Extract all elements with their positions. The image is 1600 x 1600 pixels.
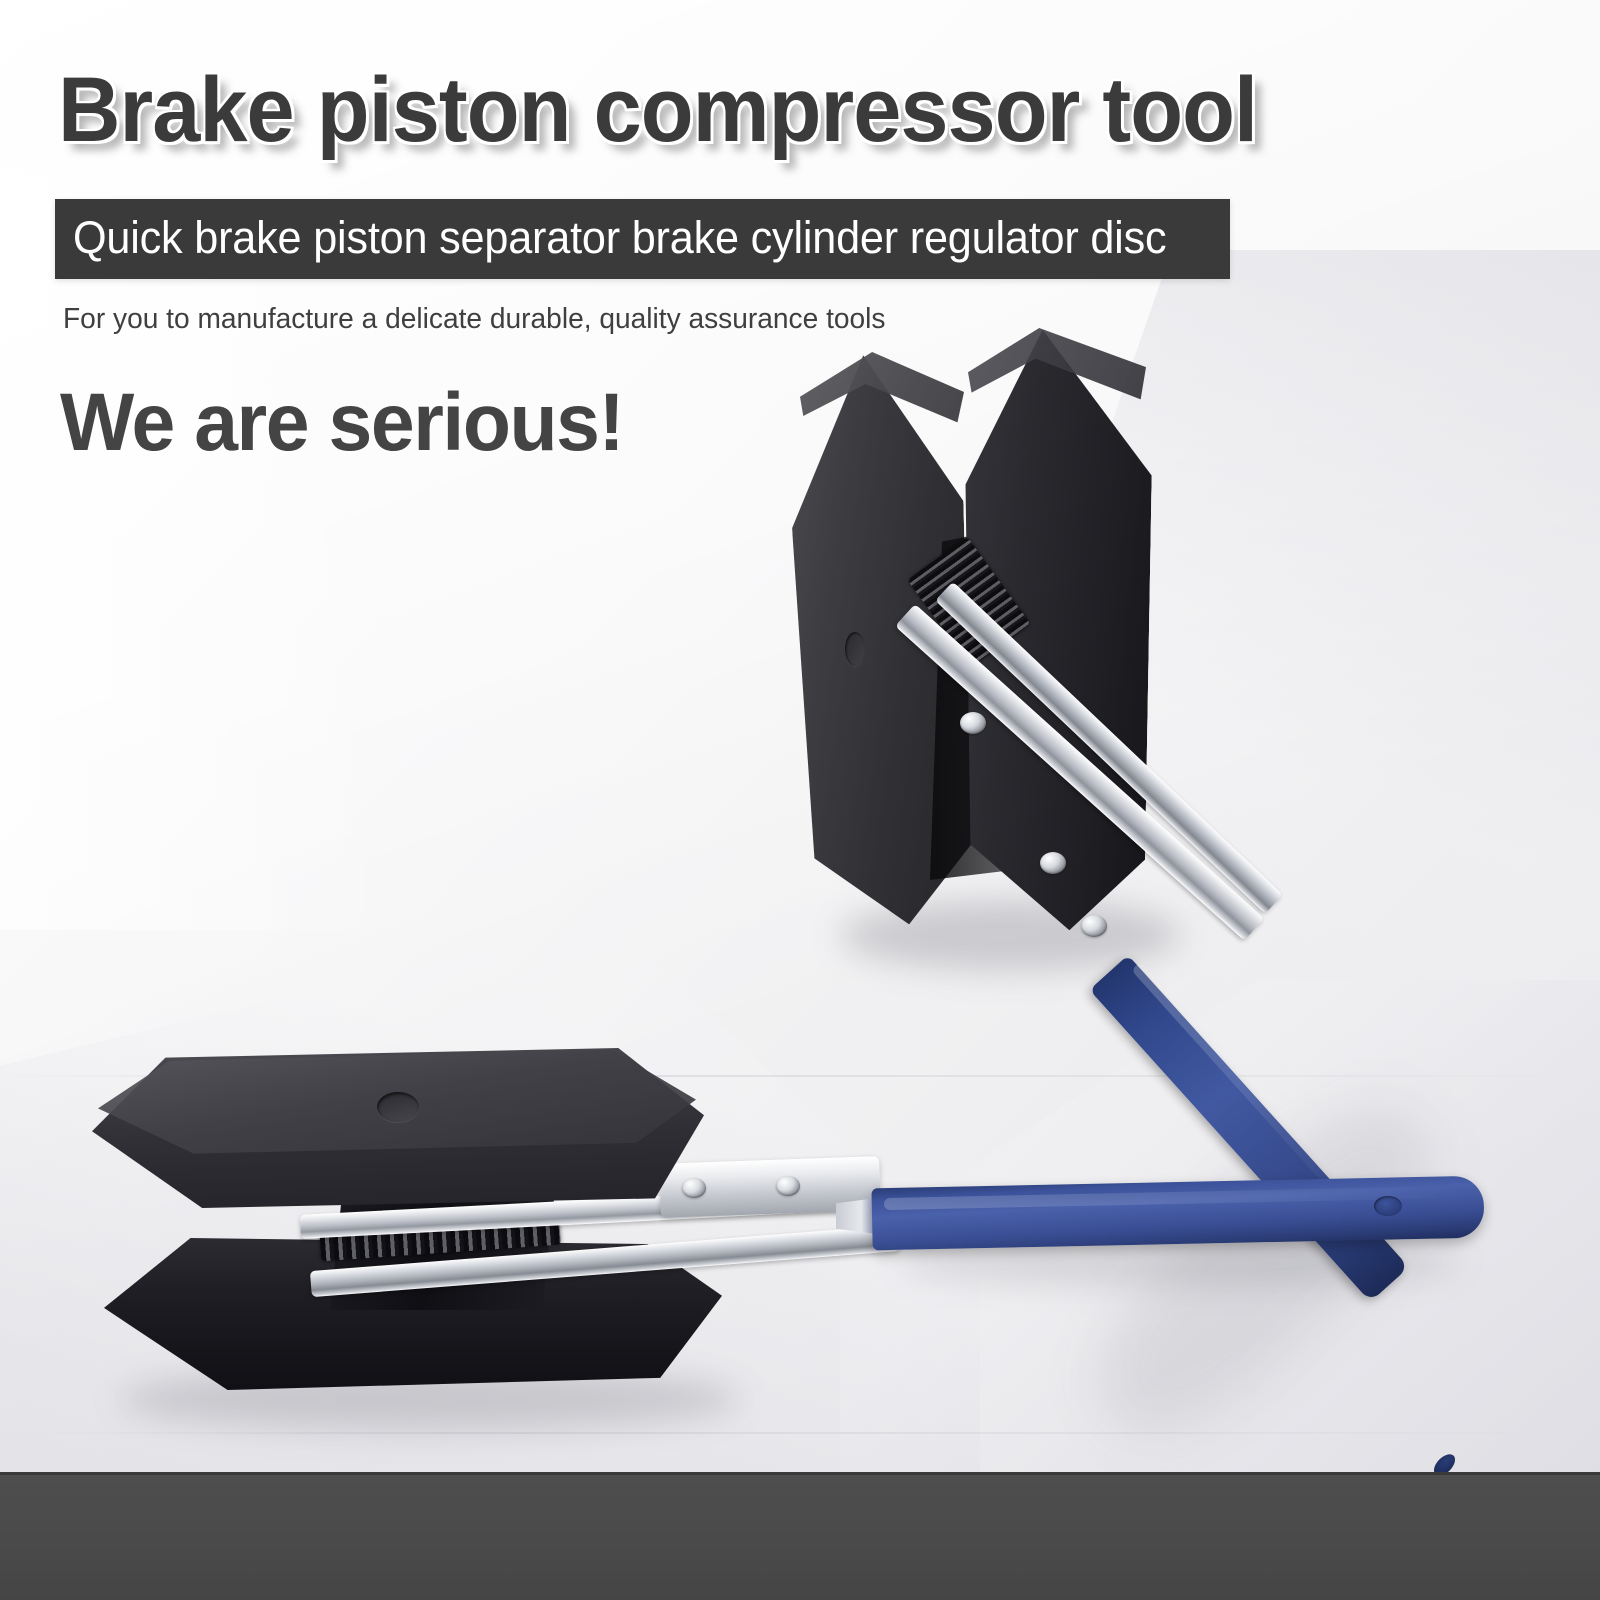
background-seam-upper — [0, 1075, 1600, 1077]
product-banner: Brake piston compressor tool Quick brake… — [0, 0, 1600, 1600]
tagline-text: For you to manufacture a delicate durabl… — [63, 303, 885, 336]
shadow-lower-tool — [120, 1368, 740, 1430]
headline-text: We are serious! — [60, 376, 623, 470]
subtitle-text: Quick brake piston separator brake cylin… — [73, 212, 1166, 264]
shadow-horizontal-handle — [900, 1242, 1460, 1284]
page-title: Brake piston compressor tool — [58, 58, 1257, 163]
bottom-dark-band — [0, 1472, 1600, 1600]
subtitle-banner: Quick brake piston separator brake cylin… — [55, 199, 1230, 279]
shadow-upper-tool — [840, 900, 1180, 970]
background-seam-lower — [0, 1432, 1600, 1434]
